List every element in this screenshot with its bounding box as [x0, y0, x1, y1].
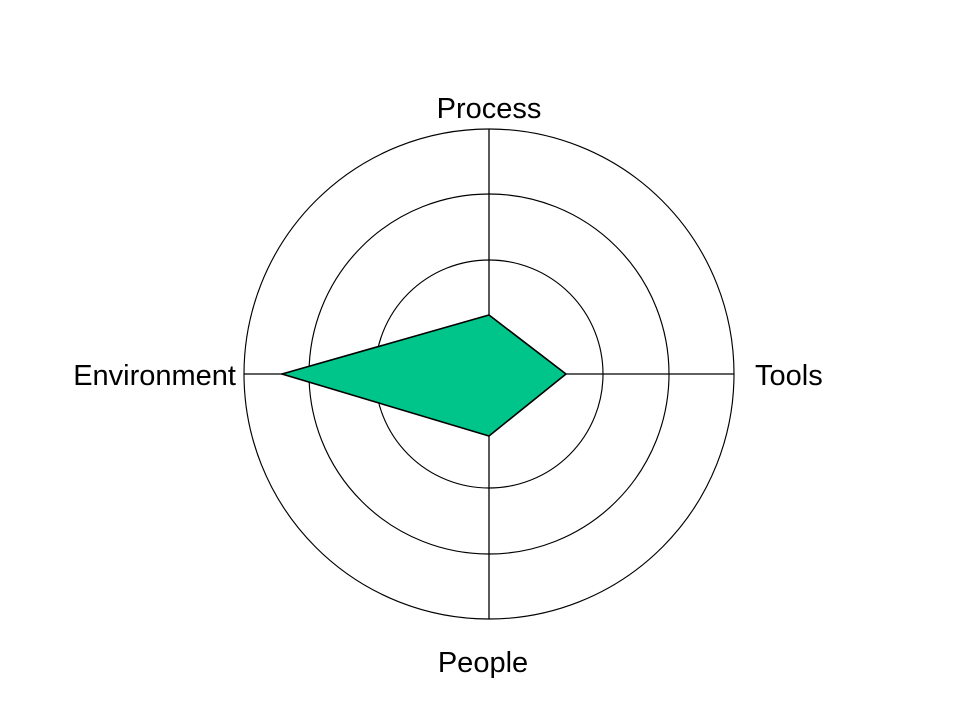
axis-label-process: Process — [437, 93, 542, 125]
radar-chart: Process Tools People Environment — [0, 0, 959, 719]
axis-label-people: People — [438, 647, 528, 679]
axis-label-tools: Tools — [755, 360, 823, 392]
axis-label-environment: Environment — [73, 360, 236, 392]
chart-canvas: Process Tools People Environment — [0, 0, 959, 719]
